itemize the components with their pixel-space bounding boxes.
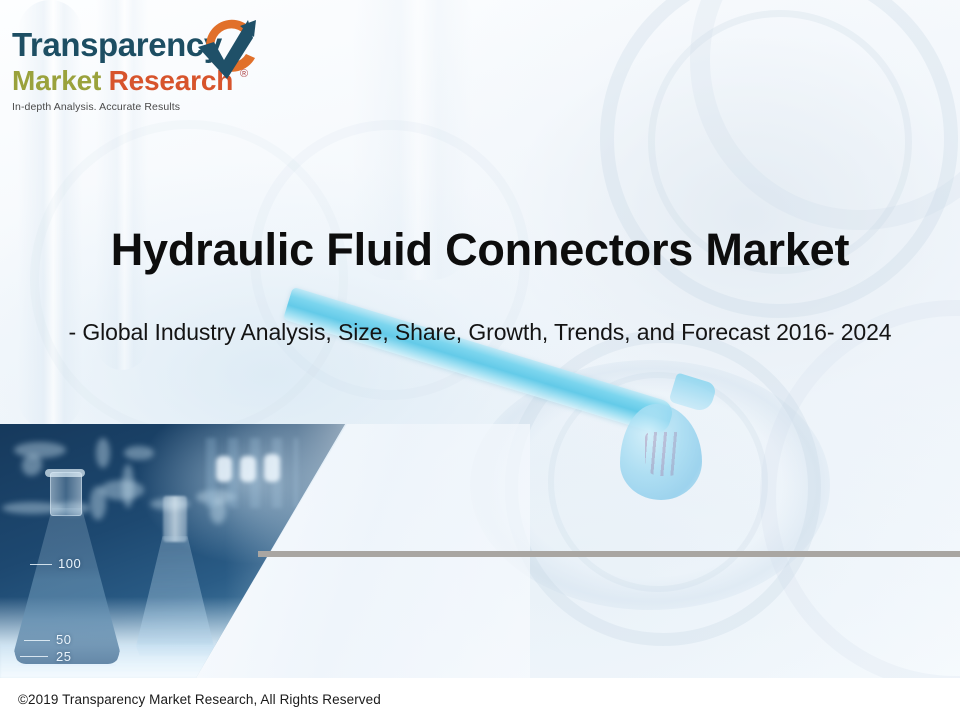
horizontal-divider-rule — [258, 551, 960, 557]
report-title: Hydraulic Fluid Connectors Market — [0, 222, 960, 278]
blackboard-scribble — [122, 464, 134, 508]
copyright-text: ©2019 Transparency Market Research, All … — [18, 692, 381, 707]
flask-graduation-tick — [24, 640, 50, 641]
foreground-erlenmeyer-flask: 100 50 25 — [14, 472, 120, 664]
report-subtitle: - Global Industry Analysis, Size, Share,… — [0, 316, 960, 348]
blackboard-scribble — [96, 438, 110, 468]
checkmark-arrow-logo-icon — [194, 16, 264, 86]
flask-graduation-tick — [30, 564, 52, 565]
flask-neck — [163, 496, 187, 542]
blackboard-scribble — [14, 442, 66, 458]
logo-market-text: Market — [12, 65, 109, 96]
flask-graduation-tick — [20, 656, 48, 657]
logo-transparency-text: Transparency — [12, 26, 222, 63]
flask-graduation-label-100: 100 — [58, 556, 81, 571]
background-droplet-streak — [645, 432, 683, 476]
flask-graduation-label-50: 50 — [56, 632, 71, 647]
flask-graduation-label-25: 25 — [56, 649, 71, 664]
report-cover-slide: Transparency Market Research In-depth An… — [0, 0, 960, 720]
background-erlenmeyer-flask — [136, 496, 214, 656]
logo-tagline: In-depth Analysis. Accurate Results — [12, 101, 262, 113]
company-logo[interactable]: Transparency Market Research In-depth An… — [12, 26, 262, 126]
flask-body — [136, 536, 214, 656]
blackboard-scribble — [124, 446, 154, 460]
